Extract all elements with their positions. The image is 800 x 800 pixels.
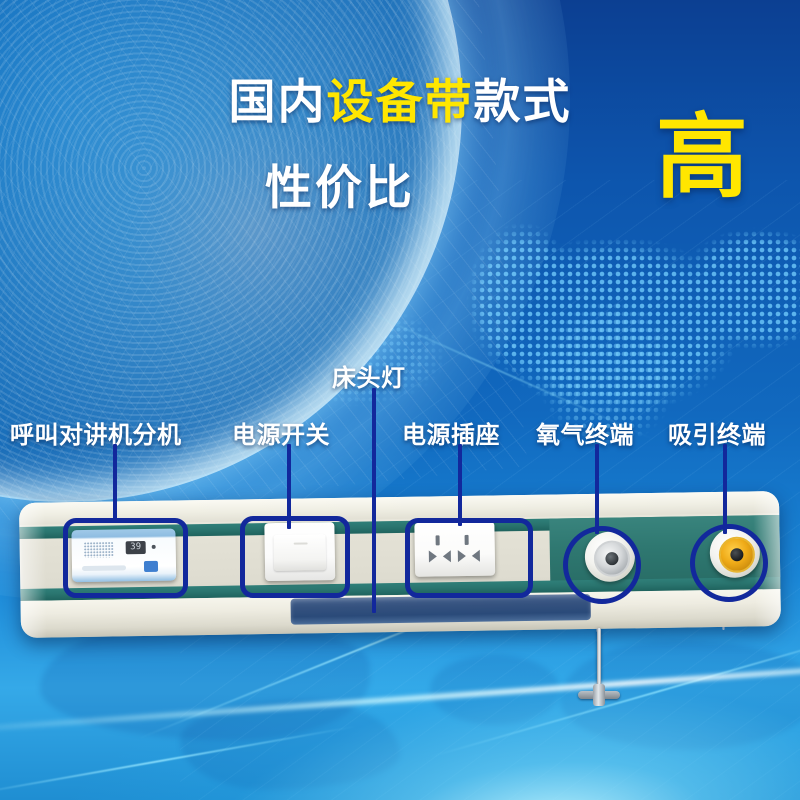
callout-line-oxygen (595, 444, 599, 534)
highlight-circle-oxygen (563, 526, 641, 604)
callout-group: 呼叫对讲机分机 电源开关 床头灯 电源插座 氧气终端 吸引终端 (0, 0, 800, 800)
callout-label-oxygen: 氧气终端 (536, 415, 634, 450)
callout-label-suction: 吸引终端 (668, 415, 766, 450)
callout-label-power-socket: 电源插座 (402, 415, 500, 450)
highlight-circle-suction (690, 524, 768, 602)
highlight-box-power-switch (240, 516, 350, 598)
callout-label-bed-lamp: 床头灯 (332, 358, 406, 393)
callout-line-suction (723, 444, 727, 534)
highlight-box-power-socket (405, 518, 533, 598)
callout-label-power-switch: 电源开关 (232, 415, 330, 450)
callout-line-power-socket (458, 444, 462, 526)
poster-canvas: 国内设备带款式 性价比 高 呼叫对讲机分机 电源开关 床头灯 电源插座 氧气终端… (0, 0, 800, 800)
highlight-box-intercom (63, 518, 188, 598)
callout-label-intercom: 呼叫对讲机分机 (10, 415, 182, 450)
callout-line-bed-lamp (372, 388, 376, 613)
callout-line-intercom (113, 444, 117, 519)
